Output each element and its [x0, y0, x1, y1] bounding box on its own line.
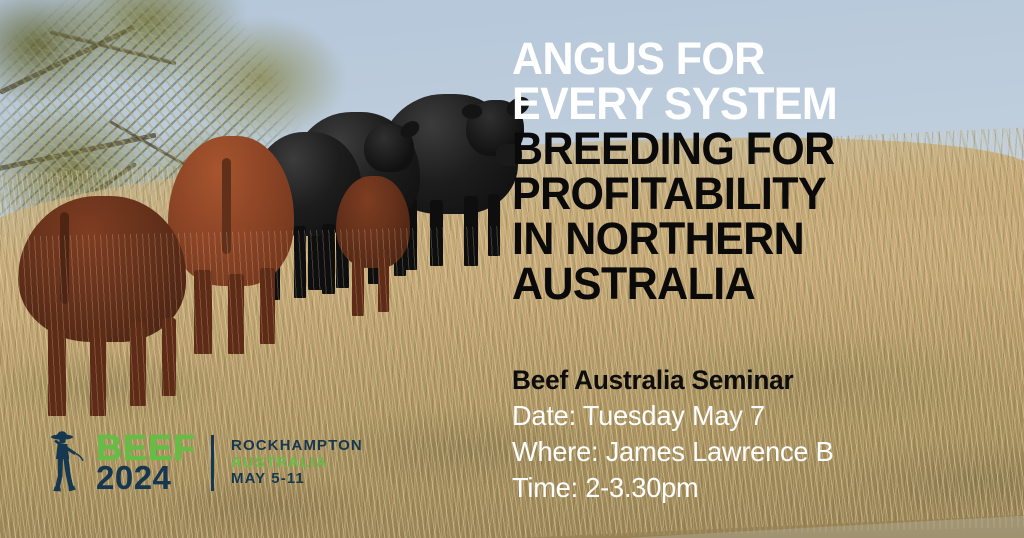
beef-2024-logo[interactable]: BEEF 2024 ROCKHAMPTON AUSTRALIA MAY 5-11 — [42, 427, 363, 499]
headline-line-3: BREEDING FOR — [512, 126, 961, 171]
poster: ANGUS FOR EVERY SYSTEM BREEDING FOR PROF… — [0, 0, 1024, 538]
headline: ANGUS FOR EVERY SYSTEM BREEDING FOR PROF… — [512, 36, 982, 306]
headline-line-6: AUSTRALIA — [512, 261, 961, 306]
seminar-title: Beef Australia Seminar — [512, 362, 968, 398]
logo-country: AUSTRALIA — [231, 455, 363, 472]
seminar-date: Date: Tuesday May 7 — [512, 398, 968, 434]
logo-divider — [211, 435, 214, 491]
event-details: Beef Australia Seminar Date: Tuesday May… — [512, 362, 982, 506]
seminar-location: Where: James Lawrence B — [512, 434, 968, 470]
headline-line-1: ANGUS FOR — [512, 36, 961, 81]
headline-line-2: EVERY SYSTEM — [512, 81, 961, 126]
logo-place-block: ROCKHAMPTON AUSTRALIA MAY 5-11 — [231, 438, 363, 488]
logo-wordmark: BEEF 2024 — [96, 433, 196, 492]
logo-year: 2024 — [96, 464, 196, 492]
stockman-icon — [42, 428, 88, 498]
headline-line-4: PROFITABILITY — [512, 171, 961, 216]
headline-line-5: IN NORTHERN — [512, 216, 961, 261]
logo-dates: MAY 5-11 — [231, 471, 363, 488]
logo-city: ROCKHAMPTON — [231, 438, 363, 455]
seminar-time: Time: 2-3.30pm — [512, 470, 968, 506]
